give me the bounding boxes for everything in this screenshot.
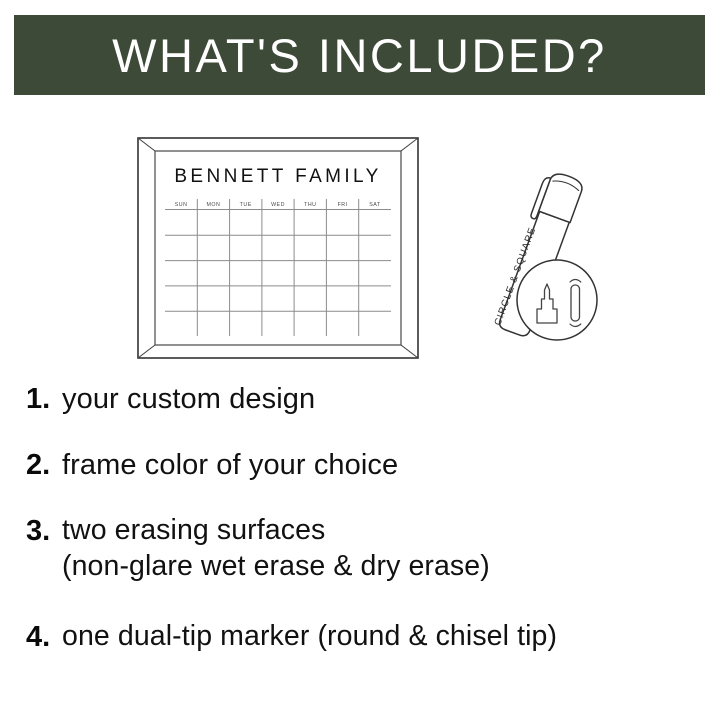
list-item-text-wrap: one dual-tip marker (round & chisel tip) [62,620,557,654]
list-item: 3. two erasing surfaces (non-glare wet e… [26,514,490,583]
chisel-tip-icon [571,285,580,321]
list-item-text-wrap: your custom design [62,382,315,416]
list-item-number: 1. [26,382,62,416]
day-header-tue: TUE [240,202,252,208]
list-item: 1. your custom design [26,382,315,416]
list-item: 2. frame color of your choice [26,448,398,482]
day-header-sat: SAT [369,202,381,208]
day-header-thu: THU [304,202,316,208]
calendar-board-illustration: BENNETT FAMILY SUN MON TUE WED THU FRI S… [137,137,419,359]
day-header-fri: FRI [338,202,348,208]
illustration-area: BENNETT FAMILY SUN MON TUE WED THU FRI S… [0,110,720,375]
list-item-label: frame color of your choice [62,448,398,482]
day-header-wed: WED [271,202,285,208]
list-item-label: one dual-tip marker (round & chisel tip) [62,620,557,654]
list-item-text-wrap: frame color of your choice [62,448,398,482]
marker-illustration: CIRCLE & SQUARE [466,158,606,358]
list-item: 4. one dual-tip marker (round & chisel t… [26,620,557,654]
list-item-number: 2. [26,448,62,482]
day-header-mon: MON [206,202,220,208]
list-item-number: 4. [26,620,62,654]
day-header-sun: SUN [175,202,188,208]
tip-magnifier-circle [517,260,597,340]
list-item-text-wrap: two erasing surfaces (non-glare wet eras… [62,514,490,583]
list-item-label: two erasing surfaces [62,514,490,548]
page-title: WHAT'S INCLUDED? [112,32,607,79]
header-banner: WHAT'S INCLUDED? [14,15,705,95]
list-item-label: your custom design [62,382,315,416]
list-item-sublabel: (non-glare wet erase & dry erase) [62,550,490,584]
list-item-number: 3. [26,514,62,548]
calendar-board-title: BENNETT FAMILY [174,166,381,187]
